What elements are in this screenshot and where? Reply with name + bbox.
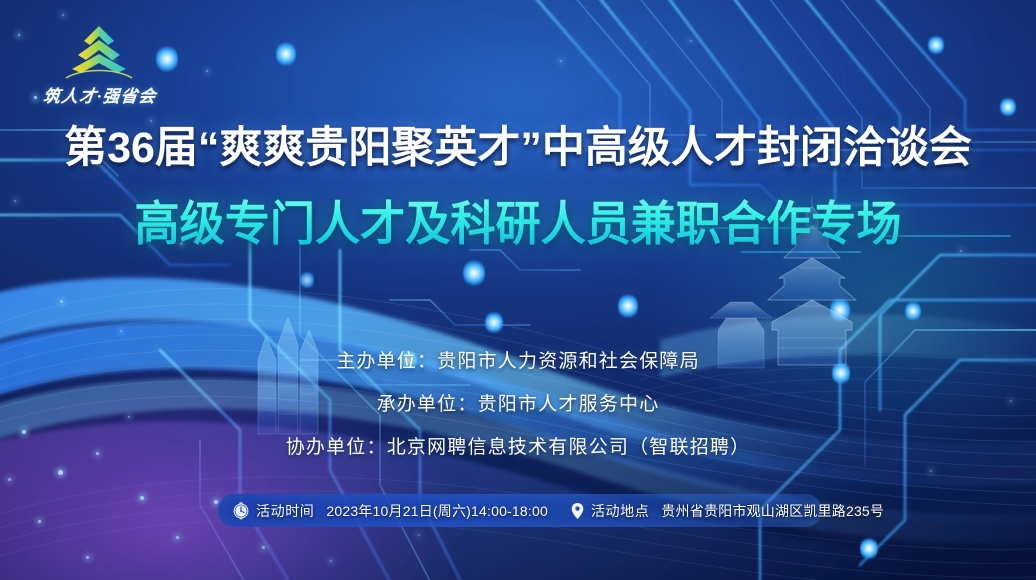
organizer-line-cohost: 协办单位：北京网聘信息技术有限公司（智联招聘） (0, 438, 1036, 457)
main-title: 第36届“爽爽贵阳聚英才”中高级人才封闭洽谈会 (0, 113, 1036, 175)
glow-dot (276, 40, 296, 68)
glow-dot (485, 310, 503, 335)
glow-dot (300, 270, 314, 290)
clock-icon (232, 502, 250, 520)
organizer-list: 主办单位：贵阳市人力资源和社会保障局 承办单位：贵阳市人才服务中心 协办单位：北… (0, 352, 1036, 457)
location-pin-icon (570, 502, 585, 520)
pine-tree-logo-mark (62, 22, 136, 80)
place-label: 活动地点 (591, 501, 649, 521)
organizer-line-host: 主办单位：贵阳市人力资源和社会保障局 (0, 352, 1036, 371)
event-poster-banner: 筑人才·强省会 第36届“爽爽贵阳聚英才”中高级人才封闭洽谈会 高级专门人才及科… (0, 0, 1036, 580)
glow-dot (860, 536, 878, 561)
logo-wordmark: 筑人才·强省会 (39, 80, 162, 108)
glow-dot (928, 34, 944, 56)
subtitle: 高级专门人才及科研人员兼职合作专场 (21, 185, 1016, 254)
time-value: 2023年10月21日(周六)14:00-18:00 (326, 501, 548, 521)
organizer-line-coordinator: 承办单位：贵阳市人才服务中心 (0, 395, 1036, 414)
event-info-bar: 活动时间 2023年10月21日(周六)14:00-18:00 活动地点 贵州省… (218, 494, 822, 527)
glow-dot (905, 300, 921, 322)
time-label: 活动时间 (256, 501, 314, 521)
glow-dot (463, 258, 485, 288)
glow-dot (830, 296, 850, 324)
organization-logo: 筑人才·强省会 (40, 22, 160, 110)
place-value: 贵州省贵阳市观山湖区凯里路235号 (661, 501, 884, 521)
glow-dot (618, 292, 638, 320)
